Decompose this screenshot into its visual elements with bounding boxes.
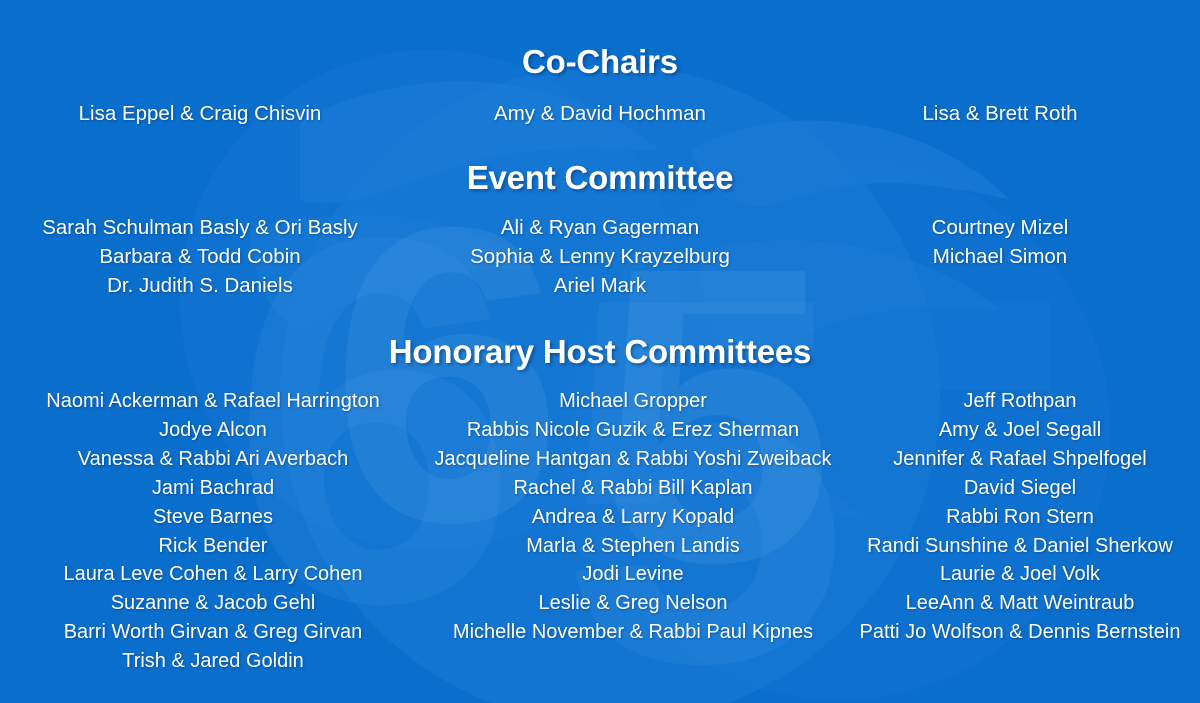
cochairs-column-3: Lisa & Brett Roth — [800, 99, 1200, 128]
list-item: David Siegel — [840, 474, 1200, 503]
list-item: Amy & David Hochman — [400, 99, 800, 128]
list-item: Amy & Joel Segall — [840, 416, 1200, 445]
list-item: Sophia & Lenny Krayzelburg — [400, 242, 800, 271]
list-item: Lisa & Brett Roth — [800, 99, 1200, 128]
cochairs-column-2: Amy & David Hochman — [400, 99, 800, 128]
list-item: Vanessa & Rabbi Ari Averbach — [0, 445, 426, 474]
honorary-columns: Naomi Ackerman & Rafael Harrington Jodye… — [0, 368, 1200, 676]
list-item: Dr. Judith S. Daniels — [0, 271, 400, 300]
section-cochairs: Co-Chairs Lisa Eppel & Craig Chisvin Amy… — [0, 0, 1200, 128]
list-item: Jeff Rothpan — [840, 387, 1200, 416]
list-item: Randi Sunshine & Daniel Sherkow — [840, 532, 1200, 561]
list-item: Andrea & Larry Kopald — [426, 503, 840, 532]
list-item: Patti Jo Wolfson & Dennis Bernstein — [840, 618, 1200, 647]
list-item: Barbara & Todd Cobin — [0, 242, 400, 271]
section-title-cochairs: Co-Chairs — [0, 0, 1200, 78]
list-item: Lisa Eppel & Craig Chisvin — [0, 99, 400, 128]
list-item: Laurie & Joel Volk — [840, 560, 1200, 589]
event-committee-column-2: Ali & Ryan Gagerman Sophia & Lenny Krayz… — [400, 213, 800, 300]
list-item: LeeAnn & Matt Weintraub — [840, 589, 1200, 618]
list-item: Ali & Ryan Gagerman — [400, 213, 800, 242]
list-item: Laura Leve Cohen & Larry Cohen — [0, 560, 426, 589]
slide-content: Co-Chairs Lisa Eppel & Craig Chisvin Amy… — [0, 0, 1200, 703]
list-item: Rabbis Nicole Guzik & Erez Sherman — [426, 416, 840, 445]
list-item: Rabbi Ron Stern — [840, 503, 1200, 532]
list-item: Sarah Schulman Basly & Ori Basly — [0, 213, 400, 242]
list-item: Michelle November & Rabbi Paul Kipnes — [426, 618, 840, 647]
list-item: Rick Bender — [0, 532, 426, 561]
list-item: Jodye Alcon — [0, 416, 426, 445]
list-item: Michael Gropper — [426, 387, 840, 416]
section-honorary-host-committees: Honorary Host Committees Naomi Ackerman … — [0, 300, 1200, 676]
list-item: Rachel & Rabbi Bill Kaplan — [426, 474, 840, 503]
honorary-column-2: Michael Gropper Rabbis Nicole Guzik & Er… — [426, 387, 840, 676]
list-item: Leslie & Greg Nelson — [426, 589, 840, 618]
honorary-column-3: Jeff Rothpan Amy & Joel Segall Jennifer … — [840, 387, 1200, 676]
list-item: Naomi Ackerman & Rafael Harrington — [0, 387, 426, 416]
list-item: Jami Bachrad — [0, 474, 426, 503]
list-item: Suzanne & Jacob Gehl — [0, 589, 426, 618]
list-item: Jacqueline Hantgan & Rabbi Yoshi Zweibac… — [426, 445, 840, 474]
honorary-column-1: Naomi Ackerman & Rafael Harrington Jodye… — [0, 387, 426, 676]
list-item: Ariel Mark — [400, 271, 800, 300]
list-item: Jennifer & Rafael Shpelfogel — [840, 445, 1200, 474]
list-item: Steve Barnes — [0, 503, 426, 532]
list-item: Michael Simon — [800, 242, 1200, 271]
list-item: Marla & Stephen Landis — [426, 532, 840, 561]
list-item: Barri Worth Girvan & Greg Girvan — [0, 618, 426, 647]
event-committee-columns: Sarah Schulman Basly & Ori Basly Barbara… — [0, 194, 1200, 300]
event-committee-column-1: Sarah Schulman Basly & Ori Basly Barbara… — [0, 213, 400, 300]
list-item: Jodi Levine — [426, 560, 840, 589]
section-title-event-committee: Event Committee — [0, 128, 1200, 194]
section-event-committee: Event Committee Sarah Schulman Basly & O… — [0, 128, 1200, 300]
cochairs-columns: Lisa Eppel & Craig Chisvin Amy & David H… — [0, 78, 1200, 128]
event-committee-column-3: Courtney Mizel Michael Simon — [800, 213, 1200, 300]
section-title-honorary-host-committees: Honorary Host Committees — [0, 300, 1200, 368]
list-item: Courtney Mizel — [800, 213, 1200, 242]
slide-root: 6 5 6 5 Co-Chairs Lisa Eppel & Craig Chi… — [0, 0, 1200, 703]
cochairs-column-1: Lisa Eppel & Craig Chisvin — [0, 99, 400, 128]
list-item: Trish & Jared Goldin — [0, 647, 426, 676]
